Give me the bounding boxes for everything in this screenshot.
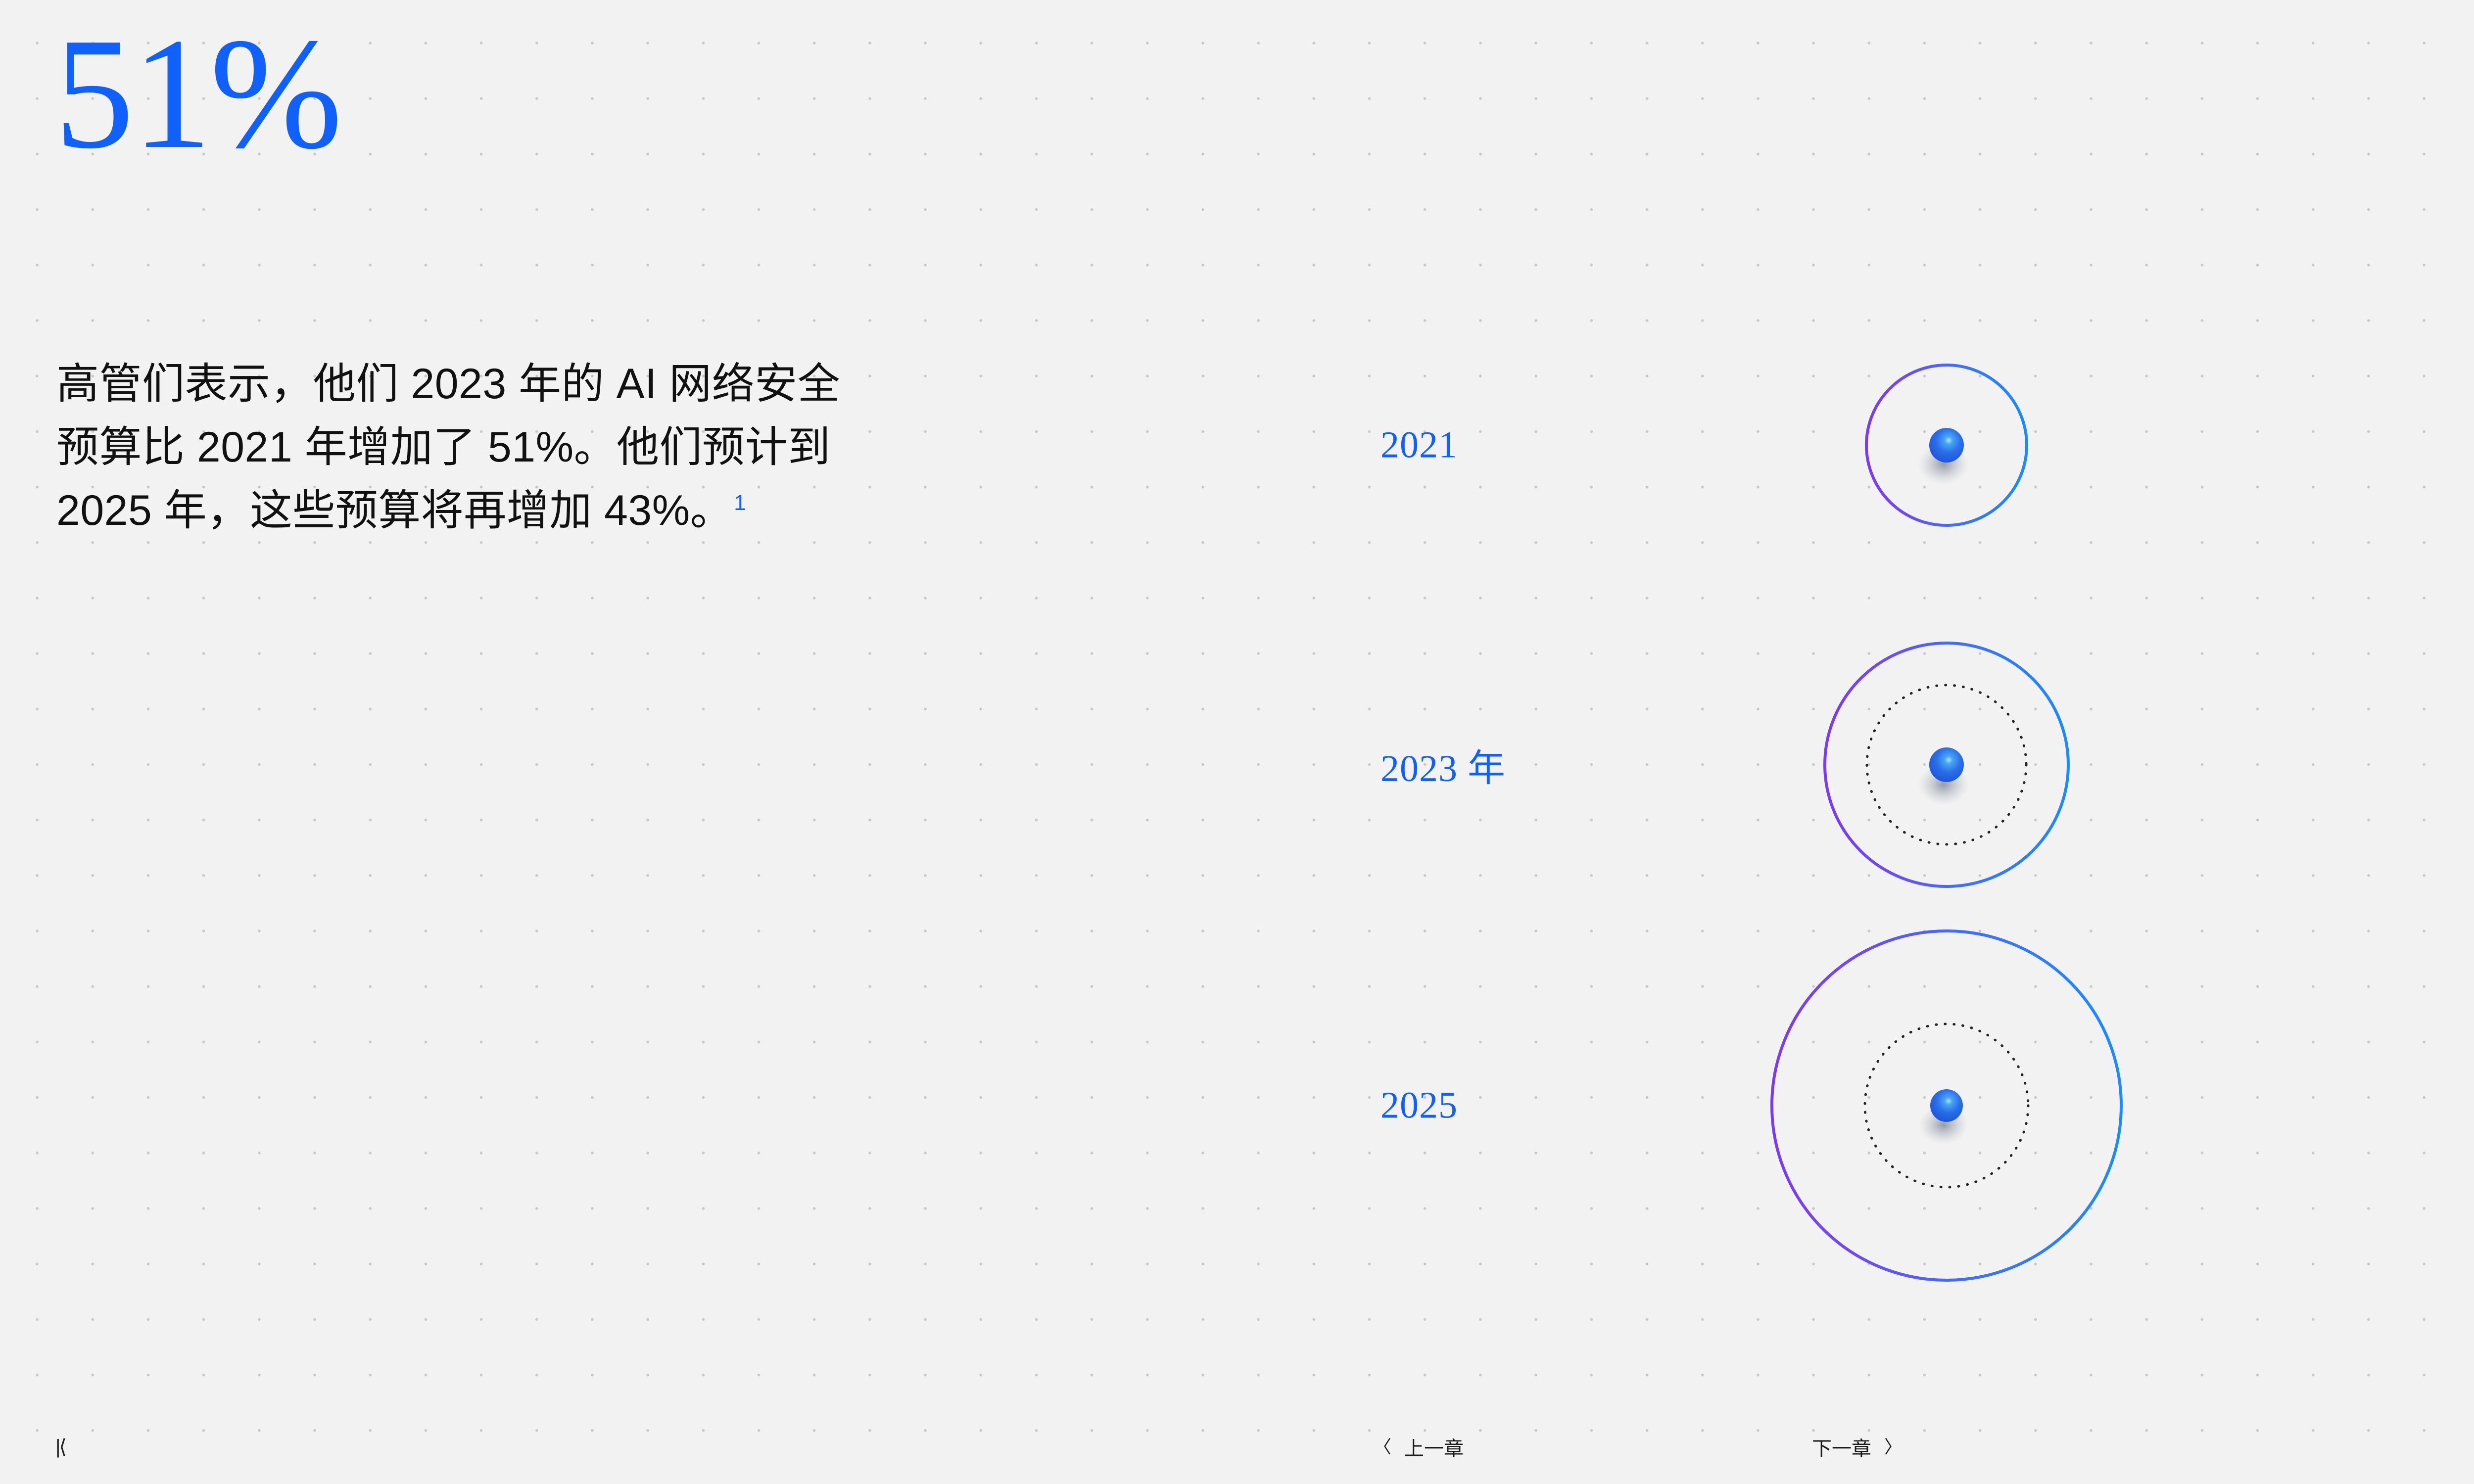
bubble-node-2023 bbox=[1507, 643, 2068, 886]
marker-sphere-2023 bbox=[1929, 747, 1964, 782]
footnote-marker: 1 bbox=[734, 491, 746, 515]
marker-shadow-2023 bbox=[1918, 764, 1969, 805]
slide-page: 51% 高管们表示，他们 2023 年的 AI 网络安全预算比 2021 年增加… bbox=[0, 0, 2474, 1484]
body-paragraph-text: 高管们表示，他们 2023 年的 AI 网络安全预算比 2021 年增加了 51… bbox=[56, 360, 840, 534]
bubble-label-2025: 2025 bbox=[1380, 1084, 1458, 1127]
bubble-growth-diagram bbox=[0, 0, 2474, 1484]
previous-chapter-label: 上一章 bbox=[1404, 1433, 1464, 1461]
first-page-button[interactable]: |⟨ bbox=[55, 1437, 65, 1457]
bubble-node-2025 bbox=[1507, 931, 2121, 1280]
chevron-right-icon: 〉 bbox=[1884, 1438, 1902, 1456]
footer-navigation: |⟨ 〈 上一章 下一章 〉 8 bbox=[0, 1410, 2474, 1484]
body-paragraph: 高管们表示，他们 2023 年的 AI 网络安全预算比 2021 年增加了 51… bbox=[56, 352, 868, 542]
marker-shadow-2021 bbox=[1918, 443, 1969, 485]
marker-shadow-2025 bbox=[1919, 1105, 1968, 1145]
marker-sphere-2025 bbox=[1930, 1089, 1963, 1122]
skip-to-start-icon: |⟨ bbox=[55, 1437, 65, 1457]
next-chapter-label: 下一章 bbox=[1812, 1433, 1871, 1461]
chevron-left-icon: 〈 bbox=[1374, 1438, 1391, 1456]
bubble-node-2021 bbox=[1507, 365, 2027, 525]
previous-chapter-button[interactable]: 〈 上一章 bbox=[1374, 1433, 1464, 1461]
bubble-label-2023: 2023 年 bbox=[1380, 738, 1506, 792]
outer-ring-2025 bbox=[1772, 931, 2121, 1280]
outer-ring-2021 bbox=[1866, 365, 2027, 525]
next-chapter-button[interactable]: 下一章 〉 bbox=[1812, 1433, 1902, 1461]
page-title-statistic: 51% bbox=[54, 14, 340, 173]
marker-sphere-2021 bbox=[1929, 428, 1964, 463]
bubble-label-2021: 2021 bbox=[1380, 424, 1458, 467]
inner-dotted-ring-2025 bbox=[1865, 1024, 2028, 1187]
inner-dotted-ring-2023 bbox=[1867, 685, 2026, 844]
outer-ring-2023 bbox=[1825, 643, 2068, 886]
